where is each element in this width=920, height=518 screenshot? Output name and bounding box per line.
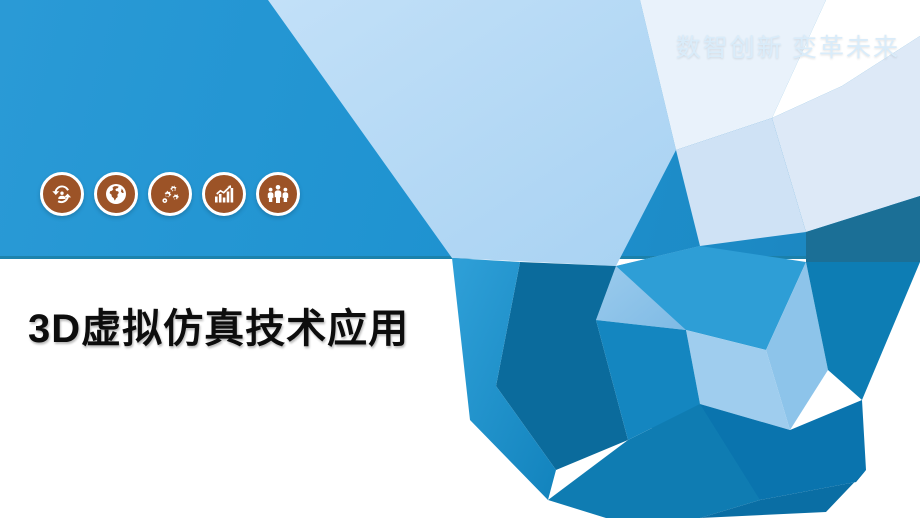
- icon-strip: [40, 172, 300, 216]
- refresh-innovation-icon-badge[interactable]: [40, 172, 84, 216]
- globe-icon: [104, 182, 128, 206]
- people-group-icon: [266, 182, 290, 206]
- gears-icon: [158, 182, 182, 206]
- polygon-artwork: [0, 0, 920, 518]
- globe-icon-badge[interactable]: [94, 172, 138, 216]
- title-block: 3D虚拟仿真技术应用: [28, 296, 409, 354]
- gears-icon-badge[interactable]: [148, 172, 192, 216]
- people-group-icon-badge[interactable]: [256, 172, 300, 216]
- poly-deep-right-col: [806, 262, 920, 400]
- slide-root: 数智创新 变革未来: [0, 0, 920, 518]
- bar-chart-growth-icon: [212, 182, 236, 206]
- page-title: 3D虚拟仿真技术应用: [28, 296, 409, 354]
- refresh-innovation-icon: [50, 182, 74, 206]
- poly-pale-upper-wedge: [268, 0, 676, 266]
- tagline: 数智创新 变革未来: [676, 28, 900, 64]
- bar-chart-growth-icon-badge[interactable]: [202, 172, 246, 216]
